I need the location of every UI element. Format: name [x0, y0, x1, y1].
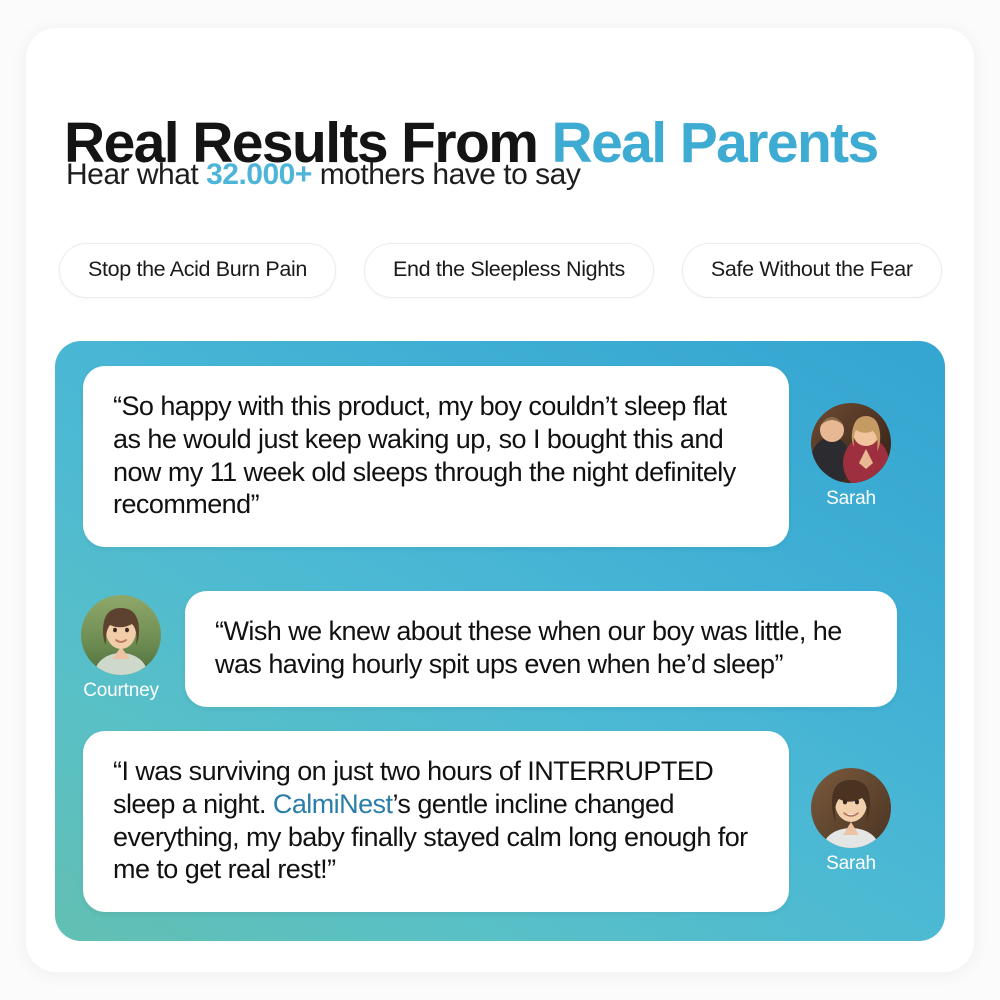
topic-chip-row: Stop the Acid Burn Pain End the Sleeples… — [59, 243, 942, 298]
subtitle-after: mothers have to say — [312, 158, 580, 191]
couple-photo-avatar — [811, 403, 891, 483]
testimonials-panel: “So happy with this product, my boy coul… — [55, 341, 945, 941]
subtitle-count: 32.000+ — [206, 158, 312, 191]
testimonial-quote-3: “I was surviving on just two hours of IN… — [113, 755, 759, 886]
chip-safe-without-the-fear[interactable]: Safe Without the Fear — [682, 243, 942, 298]
brand-name-calminest: CalmiNest — [273, 789, 393, 819]
testimonial-section-card: Real Results From Real Parents Hear what… — [26, 28, 974, 972]
testimonial-author-3: Sarah — [799, 768, 903, 875]
testimonial-author-name-1: Sarah — [826, 488, 876, 510]
testimonial-author-1: Sarah — [799, 403, 903, 510]
testimonial-row-2: Courtney “Wish we knew about these when … — [69, 591, 897, 707]
testimonial-bubble-3: “I was surviving on just two hours of IN… — [83, 731, 789, 912]
chip-end-sleepless-nights[interactable]: End the Sleepless Nights — [364, 243, 654, 298]
subtitle-before: Hear what — [66, 158, 206, 191]
testimonial-row-1: “So happy with this product, my boy coul… — [83, 366, 903, 547]
testimonial-author-name-2: Courtney — [83, 680, 159, 702]
courtney-photo-avatar — [81, 595, 161, 675]
testimonial-bubble-1: “So happy with this product, my boy coul… — [83, 366, 789, 547]
page-title-accent: Real Parents — [552, 111, 878, 175]
sarah-photo-avatar — [811, 768, 891, 848]
testimonial-author-name-3: Sarah — [826, 853, 876, 875]
testimonial-bubble-2: “Wish we knew about these when our boy w… — [185, 591, 897, 707]
testimonial-quote-2: “Wish we knew about these when our boy w… — [215, 615, 867, 681]
testimonial-quote-1: “So happy with this product, my boy coul… — [113, 390, 759, 521]
chip-stop-acid-burn-pain[interactable]: Stop the Acid Burn Pain — [59, 243, 336, 298]
testimonial-row-3: “I was surviving on just two hours of IN… — [83, 731, 903, 912]
testimonial-author-2: Courtney — [69, 595, 173, 702]
page-subtitle: Hear what 32.000+ mothers have to say — [66, 158, 580, 192]
